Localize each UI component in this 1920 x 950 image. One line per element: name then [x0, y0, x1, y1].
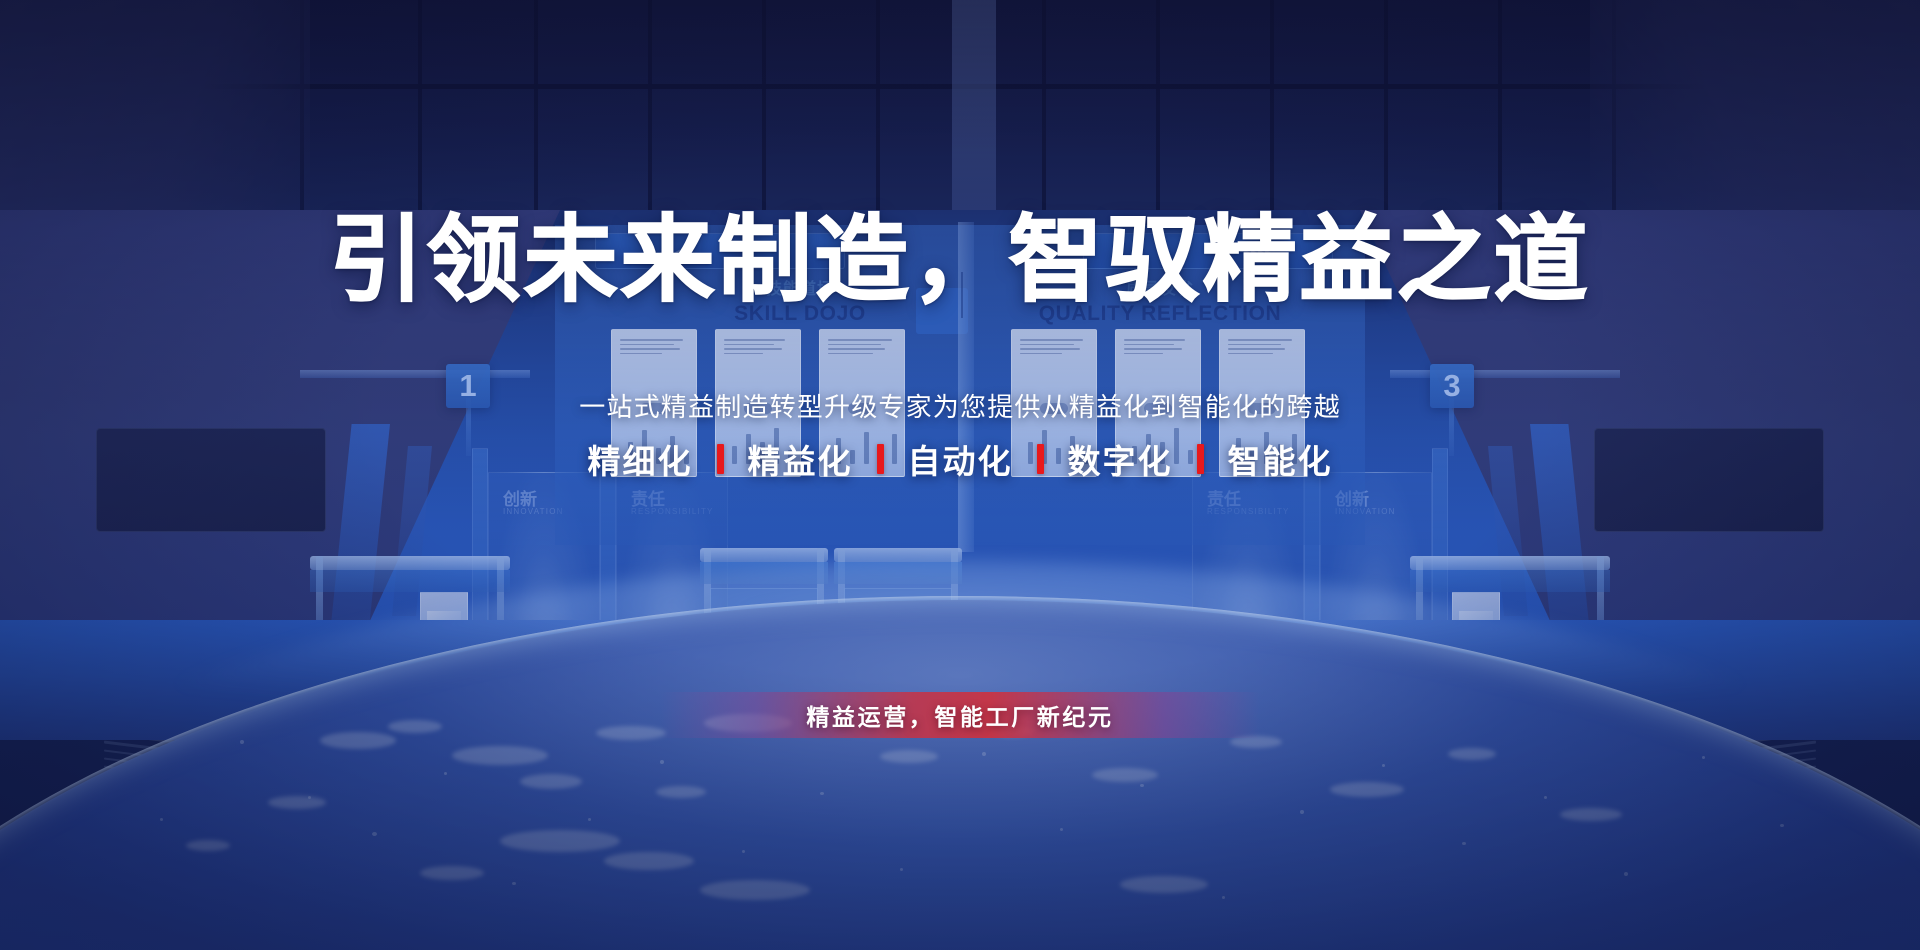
keyword-item: 精益化	[748, 435, 853, 483]
banner-stage: ENTERPRISE COURSE 创新 INN	[0, 0, 1920, 950]
keyword-separator-icon	[1197, 444, 1204, 474]
banner-content: 引领未来制造，智驭精益之道 一站式精益制造转型升级专家为您提供从精益化到智能化的…	[0, 0, 1920, 950]
subtitle: 一站式精益制造转型升级专家为您提供从精益化到智能化的跨越	[0, 391, 1920, 425]
keyword-item: 自动化	[908, 435, 1013, 483]
keyword-item: 精细化	[588, 435, 693, 483]
tagline-text: 精益运营，智能工厂新纪元	[806, 698, 1113, 732]
keyword-separator-icon	[717, 444, 724, 474]
keyword-separator-icon	[877, 444, 884, 474]
keyword-item: 智能化	[1228, 435, 1333, 483]
keyword-item: 数字化	[1068, 435, 1173, 483]
tagline-ribbon: 精益运营，智能工厂新纪元	[660, 692, 1260, 738]
keyword-separator-icon	[1037, 444, 1044, 474]
page-title: 引领未来制造，智驭精益之道	[0, 213, 1920, 307]
keyword-list: 精细化 精益化 自动化 数字化 智能化	[0, 435, 1920, 483]
